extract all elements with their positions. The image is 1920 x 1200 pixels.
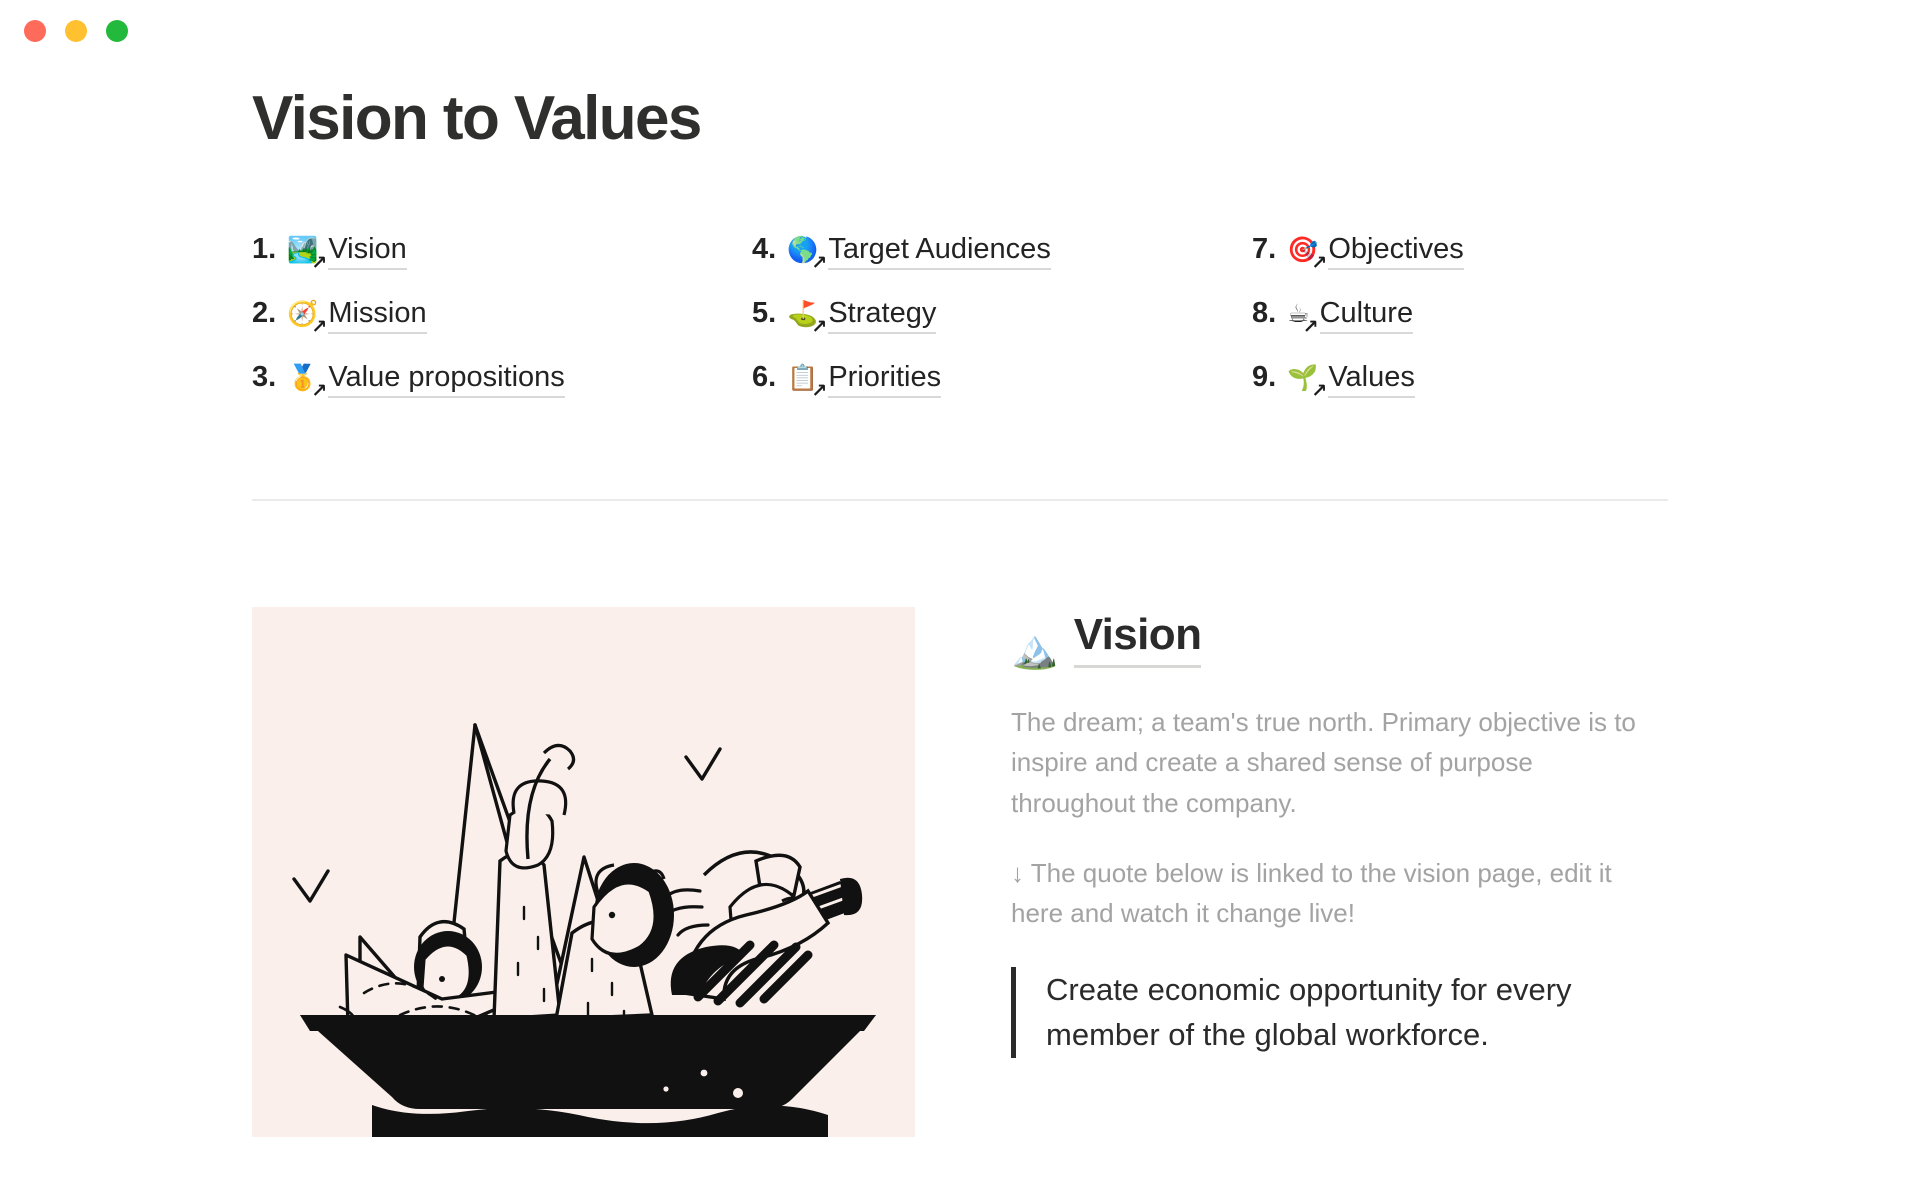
toc-label[interactable]: Priorities (828, 363, 941, 398)
link-arrow-icon: ↗ (811, 382, 827, 401)
app-window: Vision to Values 1. 🏞️ ↗ Vision 2. 🧭 ↗ M… (0, 0, 1920, 1200)
toc-item-priorities[interactable]: 6. 📋 ↗ Priorities (752, 363, 1252, 427)
snow-capped-mountain-icon: 🏔️ (1011, 630, 1058, 668)
link-arrow-icon: ↗ (1303, 318, 1319, 337)
toc-item-culture[interactable]: 8. ☕ ↗ Culture (1252, 299, 1672, 363)
hot-beverage-icon: ☕ ↗ (1287, 301, 1309, 326)
toc-item-strategy[interactable]: 5. ⛳ ↗ Strategy (752, 299, 1252, 363)
minimize-window-button[interactable] (65, 20, 87, 42)
link-arrow-icon: ↗ (811, 254, 827, 273)
document-page: Vision to Values 1. 🏞️ ↗ Vision 2. 🧭 ↗ M… (0, 62, 1920, 1200)
vision-heading: 🏔️ Vision (1011, 613, 1668, 668)
toc-label[interactable]: Target Audiences (828, 235, 1050, 270)
sailboat-illustration-svg (252, 607, 915, 1137)
toc-number: 6. (752, 363, 776, 392)
toc-label[interactable]: Values (1328, 363, 1415, 398)
globe-americas-icon: 🌎 ↗ (787, 237, 818, 262)
link-arrow-icon: ↗ (811, 318, 827, 337)
toc-number: 8. (1252, 299, 1276, 328)
toc-item-mission[interactable]: 2. 🧭 ↗ Mission (252, 299, 752, 363)
toc-item-vision[interactable]: 1. 🏞️ ↗ Vision (252, 235, 752, 299)
direct-hit-icon: 🎯 ↗ (1287, 237, 1318, 262)
vision-section-body: 🏔️ Vision The dream; a team's true north… (1011, 607, 1668, 1137)
traffic-light-controls (24, 20, 128, 42)
vision-quote: Create economic opportunity for every me… (1011, 967, 1631, 1058)
toc-label[interactable]: Objectives (1328, 235, 1463, 270)
toc-label[interactable]: Strategy (828, 299, 936, 334)
vision-description: The dream; a team's true north. Primary … (1011, 702, 1651, 822)
close-window-button[interactable] (24, 20, 46, 42)
section-divider (252, 499, 1668, 501)
toc-number: 9. (1252, 363, 1276, 392)
link-arrow-icon: ↗ (1311, 382, 1327, 401)
toc-label[interactable]: Mission (328, 299, 426, 334)
first-place-medal-icon: 🥇 ↗ (287, 365, 318, 390)
vision-note: ↓ The quote below is linked to the visio… (1011, 853, 1651, 933)
table-of-contents: 1. 🏞️ ↗ Vision 2. 🧭 ↗ Mission 3. 🥇 (252, 235, 1668, 427)
flag-in-hole-icon: ⛳ ↗ (787, 301, 818, 326)
toc-item-target-audiences[interactable]: 4. 🌎 ↗ Target Audiences (752, 235, 1252, 299)
toc-number: 4. (752, 235, 776, 264)
toc-item-objectives[interactable]: 7. 🎯 ↗ Objectives (1252, 235, 1672, 299)
national-park-icon: 🏞️ ↗ (287, 237, 318, 262)
seedling-icon: 🌱 ↗ (1287, 365, 1318, 390)
link-arrow-icon: ↗ (1311, 254, 1327, 273)
toc-number: 5. (752, 299, 776, 328)
link-arrow-icon: ↗ (311, 254, 327, 273)
people-in-sailboat-illustration (252, 607, 915, 1137)
vision-section: 🏔️ Vision The dream; a team's true north… (252, 607, 1668, 1137)
toc-number: 1. (252, 235, 276, 264)
toc-label[interactable]: Value propositions (328, 363, 564, 398)
vision-heading-text: Vision (1074, 613, 1202, 668)
link-arrow-icon: ↗ (311, 382, 327, 401)
maximize-window-button[interactable] (106, 20, 128, 42)
clipboard-icon: 📋 ↗ (787, 365, 818, 390)
toc-item-values[interactable]: 9. 🌱 ↗ Values (1252, 363, 1672, 427)
compass-icon: 🧭 ↗ (287, 301, 318, 326)
toc-label[interactable]: Vision (328, 235, 406, 270)
link-arrow-icon: ↗ (311, 318, 327, 337)
toc-number: 3. (252, 363, 276, 392)
toc-label[interactable]: Culture (1320, 299, 1414, 334)
toc-item-value-propositions[interactable]: 3. 🥇 ↗ Value propositions (252, 363, 752, 427)
window-titlebar (0, 0, 1920, 62)
page-title: Vision to Values (252, 84, 1668, 153)
toc-number: 2. (252, 299, 276, 328)
toc-number: 7. (1252, 235, 1276, 264)
